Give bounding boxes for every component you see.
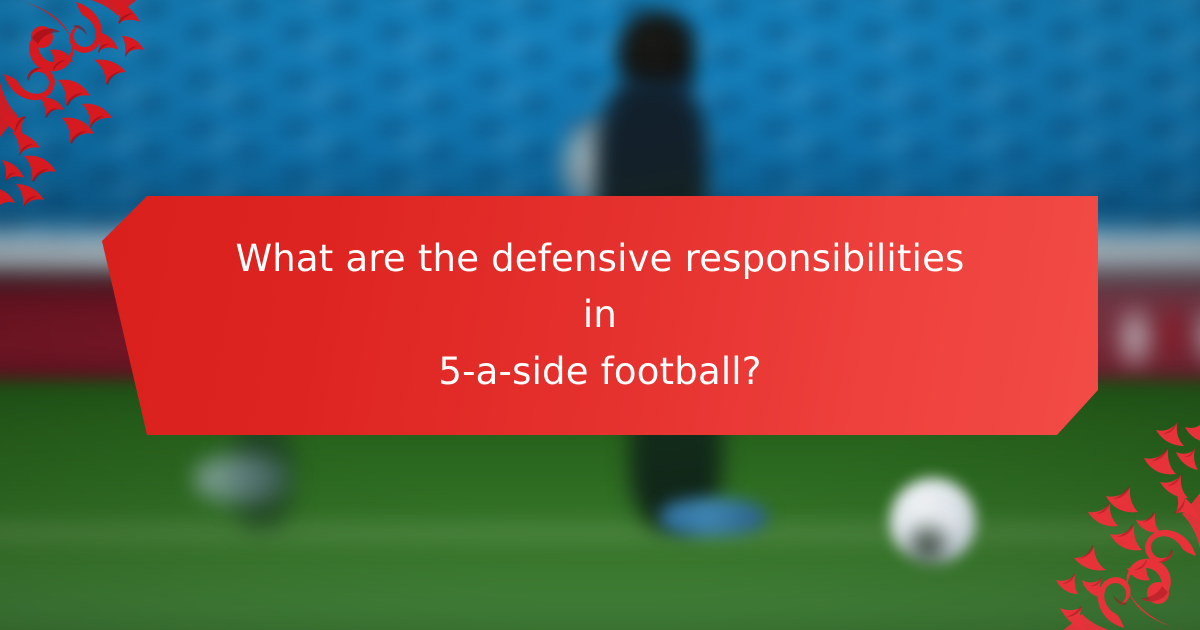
question-title-line-1: What are the defensive responsibilities …: [235, 237, 964, 336]
question-banner: What are the defensive responsibilities …: [102, 196, 1098, 435]
question-title: What are the defensive responsibilities …: [230, 231, 970, 400]
social-card: What are the defensive responsibilities …: [0, 0, 1200, 630]
question-title-line-2: 5-a-side football?: [438, 350, 761, 393]
